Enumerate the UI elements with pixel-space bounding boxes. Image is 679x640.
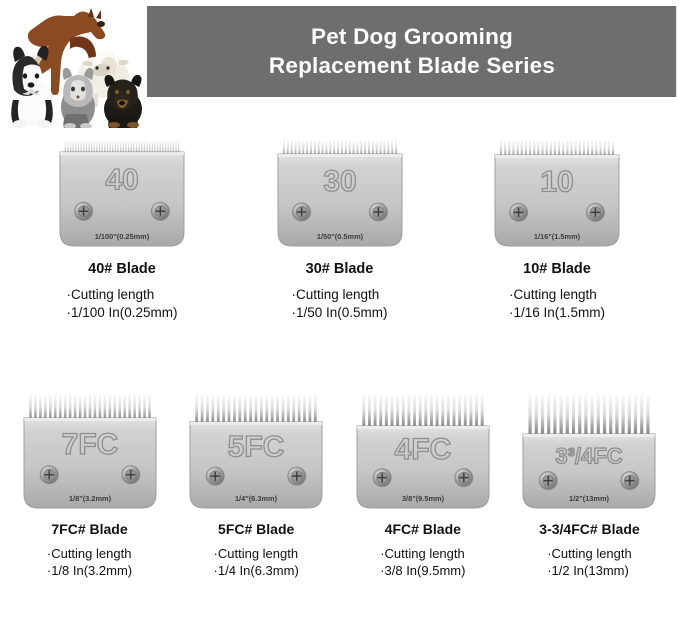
caption-measure: ·3/8 In(9.5mm): [380, 562, 465, 579]
blade-engraved-number: 30: [323, 165, 356, 198]
blade-caption-lines: ·Cutting length ·1/50 In(0.5mm): [291, 286, 387, 322]
blade-svg: 5FC 1/4"(6.3mm): [188, 392, 324, 512]
caption-cutting-length: ·Cutting length: [47, 545, 132, 562]
blade-card-40: 40 1/100"(0.25mm) 40# Blade ·Cutting len…: [42, 138, 202, 322]
blade-engraved-spec: 1/50"(0.5mm): [316, 232, 363, 241]
blade-engraved-number: 5FC: [228, 430, 285, 463]
blade-image-10: 10 1/16"(1.5mm): [493, 138, 621, 250]
blade-caption-lines: ·Cutting length ·1/16 In(1.5mm): [509, 286, 605, 322]
pet-animals-collage: [2, 4, 148, 128]
blade-engraved-number: 3³/4FC: [556, 444, 623, 469]
blade-screw-right: [151, 202, 169, 220]
blade-teeth: [362, 394, 483, 431]
product-image-root: Pet Dog Grooming Replacement Blade Serie…: [0, 0, 679, 640]
blade-image-7fc: 7FC 1/8"(3.2mm): [22, 392, 158, 512]
blade-screw-right: [369, 203, 387, 221]
blade-caption-title: 30# Blade: [306, 261, 374, 277]
blade-engraved-spec: 1/2"(13mm): [569, 494, 610, 503]
caption-cutting-length: ·Cutting length: [66, 286, 177, 304]
blade-row-bottom: 7FC 1/8"(3.2mm) 7FC# Blade ·Cutting leng…: [0, 392, 679, 579]
title-line-2: Replacement Blade Series: [269, 52, 555, 80]
blade-screw-left: [540, 472, 558, 490]
blade-caption-lines: ·Cutting length ·1/100 In(0.25mm): [66, 286, 177, 322]
blade-caption-lines: ·Cutting length ·1/8 In(3.2mm): [47, 545, 132, 579]
title-line-1: Pet Dog Grooming: [269, 23, 555, 51]
blade-svg: 10 1/16"(1.5mm): [493, 138, 621, 250]
border-collie-figure: [11, 46, 53, 128]
blade-screw-left: [75, 202, 93, 220]
blade-engraved-number: 10: [540, 165, 573, 198]
blade-caption-title: 4FC# Blade: [385, 521, 461, 537]
blade-screw-right: [586, 203, 604, 221]
blade-image-40: 40 1/100"(0.25mm): [58, 138, 186, 250]
blade-caption-title: 10# Blade: [523, 261, 591, 277]
caption-measure: ·1/2 In(13mm): [547, 562, 632, 579]
blade-teeth: [529, 394, 650, 439]
caption-measure: ·1/100 In(0.25mm): [66, 304, 177, 322]
blade-svg: 4FC 3/8"(9.5mm): [355, 392, 491, 512]
blade-screw-right: [455, 469, 473, 487]
blade-engraved-spec: 1/8"(3.2mm): [68, 494, 111, 503]
blade-engraved-number: 4FC: [394, 433, 451, 466]
page-title: Pet Dog Grooming Replacement Blade Serie…: [269, 23, 555, 80]
caption-cutting-length: ·Cutting length: [547, 545, 632, 562]
blade-card-5fc: 5FC 1/4"(6.3mm) 5FC# Blade ·Cutting leng…: [175, 392, 338, 579]
blade-caption-title: 7FC# Blade: [51, 521, 127, 537]
blade-caption-lines: ·Cutting length ·3/8 In(9.5mm): [380, 545, 465, 579]
blade-image-4fc: 4FC 3/8"(9.5mm): [355, 392, 491, 512]
blade-card-3-3-4fc: 3³/4FC 1/2"(13mm) 3-3/4FC# Blade ·Cuttin…: [508, 392, 671, 579]
blade-screw-left: [206, 467, 224, 485]
blade-screw-left: [292, 203, 310, 221]
blade-screw-right: [288, 467, 306, 485]
blade-card-7fc: 7FC 1/8"(3.2mm) 7FC# Blade ·Cutting leng…: [8, 392, 171, 579]
title-banner: Pet Dog Grooming Replacement Blade Serie…: [147, 6, 677, 97]
cat-figure: [61, 68, 95, 128]
blade-caption-title: 40# Blade: [88, 261, 156, 277]
blade-screw-right: [121, 466, 139, 484]
caption-measure: ·1/50 In(0.5mm): [291, 304, 387, 322]
header: Pet Dog Grooming Replacement Blade Serie…: [0, 0, 679, 112]
blade-caption-lines: ·Cutting length ·1/2 In(13mm): [547, 545, 632, 579]
blade-engraved-number: 40: [105, 164, 138, 197]
blade-svg: 7FC 1/8"(3.2mm): [22, 392, 158, 512]
caption-cutting-length: ·Cutting length: [380, 545, 465, 562]
blade-screw-left: [40, 466, 58, 484]
blade-engraved-spec: 3/8"(9.5mm): [402, 494, 445, 503]
caption-measure: ·1/16 In(1.5mm): [509, 304, 605, 322]
blade-screw-right: [621, 472, 639, 490]
blade-engraved-spec: 1/4"(6.3mm): [235, 494, 278, 503]
blade-screw-left: [373, 469, 391, 487]
caption-cutting-length: ·Cutting length: [214, 545, 299, 562]
blade-engraved-spec: 1/16"(1.5mm): [534, 232, 581, 241]
blade-caption-title: 5FC# Blade: [218, 521, 294, 537]
caption-cutting-length: ·Cutting length: [509, 286, 605, 304]
blade-image-3-3-4fc: 3³/4FC 1/2"(13mm): [521, 392, 657, 512]
blade-row-top: 40 1/100"(0.25mm) 40# Blade ·Cutting len…: [0, 138, 679, 322]
blade-image-5fc: 5FC 1/4"(6.3mm): [188, 392, 324, 512]
blade-card-10: 10 1/16"(1.5mm) 10# Blade ·Cutting lengt…: [477, 138, 637, 322]
caption-cutting-length: ·Cutting length: [291, 286, 387, 304]
blade-card-4fc: 4FC 3/8"(9.5mm) 4FC# Blade ·Cutting leng…: [341, 392, 504, 579]
blade-image-30: 30 1/50"(0.5mm): [276, 138, 404, 250]
rottweiler-figure: [104, 75, 142, 128]
blade-card-30: 30 1/50"(0.5mm) 30# Blade ·Cutting lengt…: [260, 138, 420, 322]
blade-screw-left: [510, 203, 528, 221]
blade-svg: 3³/4FC 1/2"(13mm): [521, 392, 657, 512]
blade-svg: 30 1/50"(0.5mm): [276, 138, 404, 250]
blade-caption-lines: ·Cutting length ·1/4 In(6.3mm): [214, 545, 299, 579]
caption-measure: ·1/4 In(6.3mm): [214, 562, 299, 579]
blade-engraved-number: 7FC: [61, 428, 118, 461]
blade-svg: 40 1/100"(0.25mm): [58, 138, 186, 250]
blade-caption-title: 3-3/4FC# Blade: [539, 521, 639, 537]
blade-engraved-spec: 1/100"(0.25mm): [95, 232, 150, 241]
caption-measure: ·1/8 In(3.2mm): [47, 562, 132, 579]
